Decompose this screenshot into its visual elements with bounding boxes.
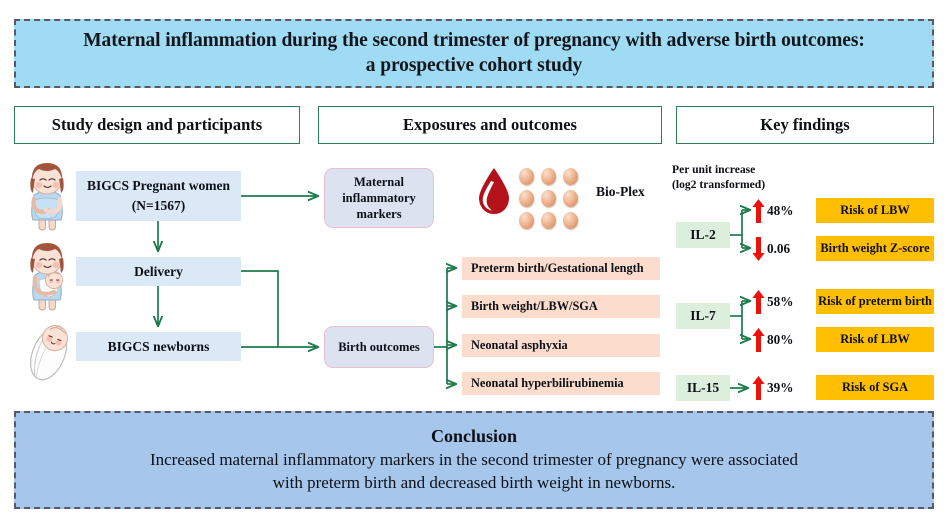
bead <box>519 190 534 207</box>
bio-plex-bead-array <box>519 168 581 230</box>
title-line-1: Maternal inflammation during the second … <box>83 29 864 54</box>
arrow-up-icon <box>752 199 765 223</box>
conclusion-line-2: with preterm birth and decreased birth w… <box>273 472 676 494</box>
section-header-exposures-outcomes: Exposures and outcomes <box>318 106 662 144</box>
finding-row: 58% <box>752 289 807 314</box>
bead <box>519 168 534 185</box>
conclusion-heading: Conclusion <box>431 426 517 447</box>
marker-box-il-2: IL-2 <box>676 222 730 248</box>
arrow-down-icon <box>752 237 765 261</box>
graphical-abstract: Maternal inflammation during the second … <box>0 0 948 527</box>
bead <box>541 212 556 229</box>
result-bar: Risk of preterm birth <box>816 289 934 314</box>
bio-plex-label: Bio-Plex <box>596 184 645 200</box>
conclusion-banner: Conclusion Increased maternal inflammato… <box>14 411 934 509</box>
box-pregnant-line-1: BIGCS Pregnant women <box>87 176 230 196</box>
outcome-bar: Neonatal asphyxia <box>462 334 660 357</box>
blood-drop-icon <box>477 167 511 220</box>
bead <box>563 168 578 185</box>
bead <box>541 190 556 207</box>
box-pregnant-line-2: (N=1567) <box>132 196 185 216</box>
bead <box>563 212 578 229</box>
finding-value: 39% <box>767 380 807 396</box>
outcome-bar: Birth weight/LBW/SGA <box>462 295 660 318</box>
conclusion-line-1: Increased maternal inflammatory markers … <box>150 449 798 471</box>
outcome-bar: Preterm birth/Gestational length <box>462 257 660 280</box>
bead <box>563 190 578 207</box>
title-line-2: a prospective cohort study <box>366 54 582 79</box>
arrow-up-icon <box>752 290 765 314</box>
finding-row: 48% <box>752 198 807 223</box>
result-bar: Risk of LBW <box>816 327 934 352</box>
finding-value: 48% <box>767 203 807 219</box>
per-unit-line-1: Per unit increase <box>672 162 765 177</box>
section-header-key-findings: Key findings <box>676 106 934 144</box>
mother-with-baby-illustration <box>14 240 80 321</box>
title-banner: Maternal inflammation during the second … <box>14 19 934 88</box>
result-bar: Risk of SGA <box>816 375 934 400</box>
per-unit-line-2: (log2 transformed) <box>672 177 765 192</box>
finding-value: 80% <box>767 332 807 348</box>
finding-value: 58% <box>767 294 807 310</box>
box-bigcs-pregnant-women: BIGCS Pregnant women (N=1567) <box>76 171 241 221</box>
finding-row: 39% <box>752 375 807 400</box>
section-header-study-design: Study design and participants <box>14 106 300 144</box>
per-unit-caption: Per unit increase (log2 transformed) <box>672 162 765 193</box>
box-maternal-inflammatory-markers: Maternal inflammatory markers <box>324 168 434 228</box>
box-bigcs-newborns: BIGCS newborns <box>76 332 241 361</box>
box-birth-outcomes: Birth outcomes <box>324 326 434 368</box>
bead <box>519 212 534 229</box>
outcome-bar: Neonatal hyperbilirubinemia <box>462 372 660 395</box>
box-delivery: Delivery <box>76 257 241 286</box>
finding-row: 80% <box>752 327 807 352</box>
finding-row: 0.06 <box>752 236 807 261</box>
arrow-up-icon <box>752 376 765 400</box>
bead <box>541 168 556 185</box>
pregnant-woman-illustration <box>14 160 80 241</box>
marker-box-il-15: IL-15 <box>676 375 730 401</box>
swaddled-newborn-illustration <box>16 318 82 393</box>
result-bar: Birth weight Z-score <box>816 236 934 261</box>
arrow-up-icon <box>752 328 765 352</box>
marker-box-il-7: IL-7 <box>676 303 730 329</box>
result-bar: Risk of LBW <box>816 198 934 223</box>
finding-value: 0.06 <box>767 241 807 257</box>
